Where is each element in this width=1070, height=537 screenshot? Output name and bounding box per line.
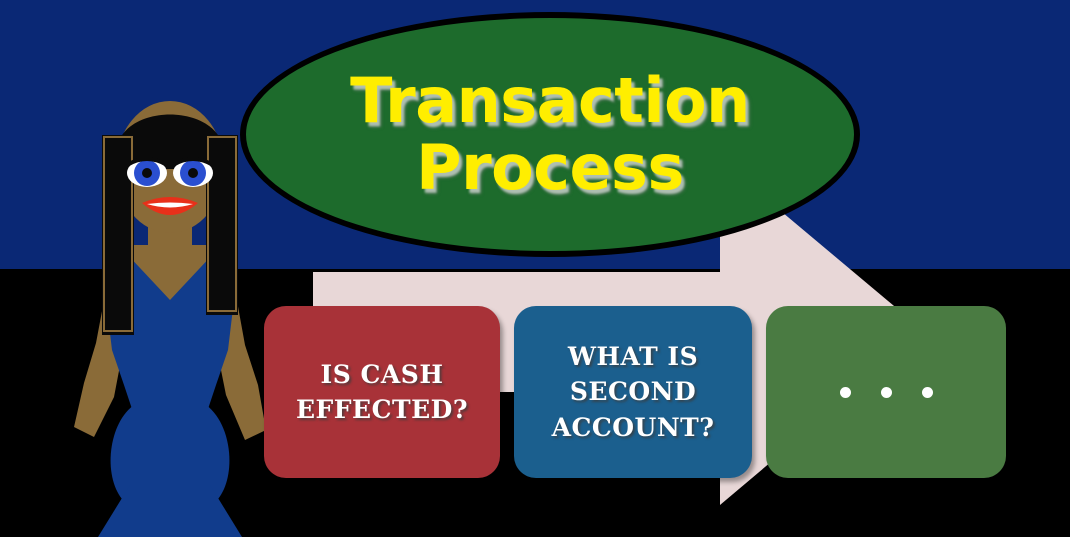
slide-canvas: Transaction Process IS CASH EFFECTED? WH… [0, 0, 1070, 537]
step-box-more[interactable] [766, 306, 1006, 478]
ellipsis-indicator [840, 387, 933, 398]
step-label-is-cash-effected: IS CASH EFFECTED? [288, 357, 476, 428]
title-line-2: Process [416, 135, 684, 202]
step-box-what-is-second-account[interactable]: WHAT IS SECOND ACCOUNT? [514, 306, 752, 478]
ellipsis-dot-3 [922, 387, 933, 398]
step-label-what-is-second-account: WHAT IS SECOND ACCOUNT? [544, 339, 723, 446]
step-box-is-cash-effected[interactable]: IS CASH EFFECTED? [264, 306, 500, 478]
title-line-1: Transaction [350, 68, 750, 135]
ellipsis-dot-2 [881, 387, 892, 398]
title-ellipse: Transaction Process [240, 12, 860, 257]
ellipsis-dot-1 [840, 387, 851, 398]
